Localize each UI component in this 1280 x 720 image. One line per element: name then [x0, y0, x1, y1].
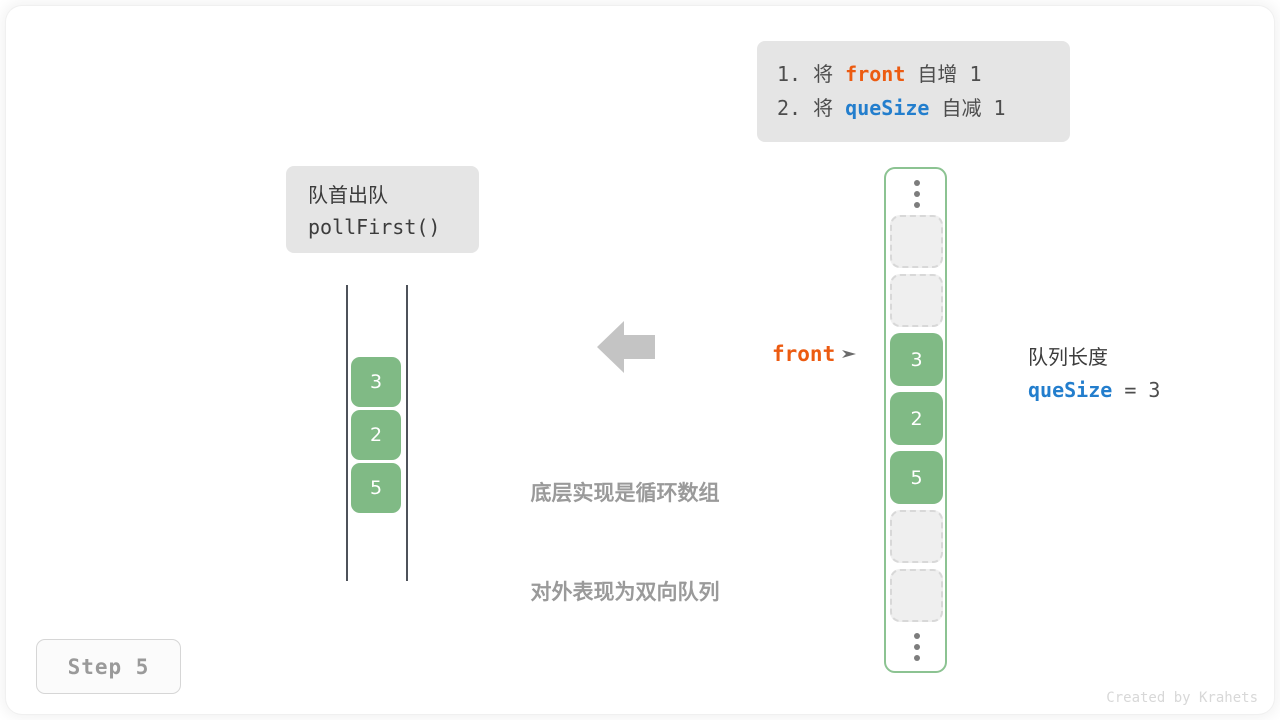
queue-size-var: queSize — [1028, 378, 1112, 402]
queue-size-expression: queSize = 3 — [1028, 372, 1160, 408]
center-description-line-2: 对外表现为双向队列 — [502, 576, 748, 609]
deque-cell: 3 — [351, 357, 401, 407]
array-slot-filled: 5 — [890, 451, 943, 504]
instruction-line-2-prefix: 2. 将 — [777, 96, 845, 120]
operation-title: 队首出队 — [308, 179, 457, 211]
ellipsis-dots-top — [886, 179, 947, 209]
dot — [914, 644, 920, 650]
queue-size-title: 队列长度 — [1028, 342, 1160, 372]
ellipsis-dots-bottom — [886, 632, 947, 662]
array-slot-empty — [890, 215, 943, 268]
instruction-line-2: 2. 将 queSize 自减 1 — [777, 91, 1050, 125]
deque-cell: 5 — [351, 463, 401, 513]
credit-text: Created by Krahets — [1106, 690, 1258, 706]
operation-method: pollFirst() — [308, 211, 457, 243]
instruction-line-1-prefix: 1. 将 — [777, 62, 845, 86]
array-slot-empty — [890, 510, 943, 563]
instruction-box: 1. 将 front 自增 1 2. 将 queSize 自减 1 — [757, 41, 1070, 142]
queue-size-value: 3 — [1148, 378, 1160, 402]
array-slot-empty — [890, 569, 943, 622]
instruction-line-1: 1. 将 front 自增 1 — [777, 57, 1050, 91]
queue-size-equals: = — [1112, 378, 1148, 402]
diagram-canvas: 1. 将 front 自增 1 2. 将 queSize 自减 1 队首出队 p… — [0, 0, 1280, 720]
front-pointer-label: front — [772, 342, 835, 366]
deque-cell: 2 — [351, 410, 401, 460]
array-slot-filled: 2 — [890, 392, 943, 445]
dot — [914, 655, 920, 661]
instruction-line-2-token: queSize — [845, 96, 929, 120]
queue-size-annotation: 队列长度 queSize = 3 — [1028, 342, 1160, 408]
instruction-line-1-suffix: 自增 1 — [905, 62, 981, 86]
dot — [914, 180, 920, 186]
dot — [914, 202, 920, 208]
circular-array: 3 2 5 — [884, 167, 947, 673]
deque-rail-right — [406, 285, 408, 581]
array-slot-filled: 3 — [890, 333, 943, 386]
instruction-line-2-suffix: 自减 1 — [929, 96, 1005, 120]
left-arrow-icon — [597, 321, 655, 373]
operation-caption-box: 队首出队 pollFirst() — [286, 166, 479, 253]
step-badge-label: Step 5 — [68, 655, 150, 679]
pointer-arrow-icon — [842, 347, 858, 361]
dot — [914, 633, 920, 639]
center-description-line-1: 底层实现是循环数组 — [502, 477, 748, 510]
step-badge: Step 5 — [36, 639, 181, 694]
array-slot-empty — [890, 274, 943, 327]
instruction-line-1-token: front — [845, 62, 905, 86]
front-pointer: front — [772, 342, 858, 366]
dot — [914, 191, 920, 197]
deque-rail-left — [346, 285, 348, 581]
center-description: 底层实现是循环数组 对外表现为双向队列 — [502, 411, 748, 675]
